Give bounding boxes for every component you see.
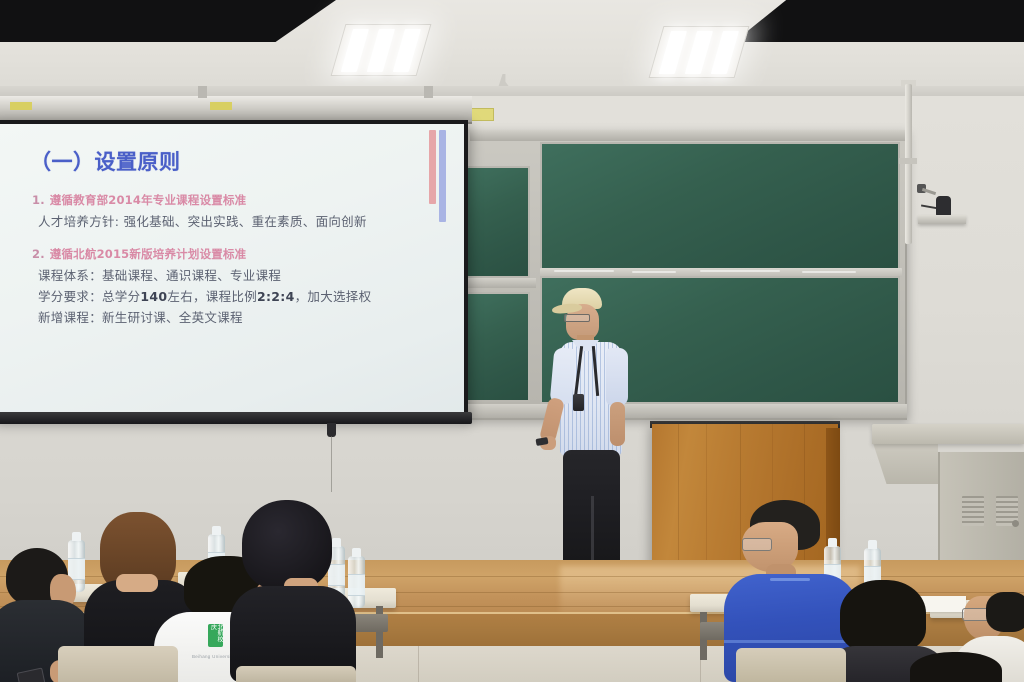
- line2-ratio: 2:2:4: [257, 289, 295, 304]
- pipe-bracket: [899, 158, 917, 164]
- screen-pull-hook[interactable]: [327, 423, 336, 437]
- attendee-hair: [840, 580, 926, 652]
- screen-label-tag: [210, 102, 232, 110]
- slide-item-2-line-3: 新增课程：新生研讨课、全英文课程: [38, 307, 438, 326]
- blackboard-panel-main-top: [540, 142, 900, 270]
- projection-screen-weight-bar: [0, 412, 472, 424]
- tshirt-logo-text: 北航 校庆: [209, 624, 222, 647]
- board-corner-tag: [470, 108, 494, 121]
- light-tube: [685, 31, 713, 74]
- slide-item-2-line-1: 课程体系：基础课程、通识课程、专业课程: [38, 265, 438, 284]
- blackboard-rail-top: [462, 130, 907, 141]
- attendee-hair: [910, 652, 1002, 682]
- presenter-forearm-right: [610, 402, 625, 446]
- cabinet-lock-icon[interactable]: [1012, 520, 1019, 527]
- screen-bracket: [424, 86, 433, 98]
- lecture-hall-photo: （一）设置原则 1.遵循教育部2014年专业课程设置标准 人才培养方针: 强化基…: [0, 0, 1024, 682]
- camera-shelf: [918, 215, 966, 224]
- slide-item-2-heading: 2.遵循北航2015新版培养计划设置标准: [32, 246, 438, 262]
- light-tube: [659, 31, 687, 74]
- slide-spacer: [24, 232, 438, 246]
- tshirt-subtext: Beihang University: [192, 654, 235, 659]
- glasses-icon: [742, 538, 772, 551]
- slide-accent-red-bar: [429, 130, 436, 204]
- attendee-neck: [116, 574, 158, 592]
- slide-title: （一）设置原则: [30, 146, 438, 176]
- attendee-black-curly-woman: [236, 500, 356, 682]
- line2-mid: 左右，课程比例: [167, 289, 257, 304]
- chair-back: [58, 646, 178, 682]
- screen-cord: [331, 436, 332, 492]
- screen-bracket: [198, 86, 207, 98]
- slide-item-2-line-2: 学分要求：总学分140左右，课程比例2:2:4，加大选择权: [38, 286, 438, 305]
- line2-pre: 学分要求：总学分: [38, 289, 140, 304]
- blackboard-panel-left-top: [466, 166, 530, 278]
- ceiling-light-fixture-left: [331, 24, 432, 76]
- projection-screen[interactable]: （一）设置原则 1.遵循教育部2014年专业课程设置标准 人才培养方针: 强化基…: [0, 120, 468, 420]
- slide-item-2-number: 2.: [32, 247, 45, 261]
- projection-screen-surface: （一）设置原则 1.遵循教育部2014年专业课程设置标准 人才培养方针: 强化基…: [0, 124, 464, 416]
- polo-collar: [770, 578, 810, 581]
- camera-icon: [936, 196, 951, 216]
- presenter-sleeve-right: [606, 348, 628, 406]
- blackboard-panel-left-bottom: [466, 292, 530, 402]
- slide-item-1-heading: 1.遵循教育部2014年专业课程设置标准: [32, 192, 438, 208]
- slide-item-1-line-1: 人才培养方针: 强化基础、突出实践、重在素质、面向创新: [38, 211, 438, 230]
- blackboard-rail-left-middle: [462, 278, 536, 288]
- glasses-icon: [564, 314, 590, 322]
- line2-post: ，加大选择权: [295, 289, 372, 304]
- screen-label-tag: [10, 102, 32, 110]
- chair-back: [736, 648, 846, 682]
- presentation-slide: （一）设置原则 1.遵循教育部2014年专业课程设置标准 人才培养方针: 强化基…: [0, 124, 464, 416]
- slide-item-1-heading-text: 遵循教育部2014年专业课程设置标准: [50, 193, 247, 207]
- slide-item-2-heading-text: 遵循北航2015新版培养计划设置标准: [50, 247, 247, 261]
- light-tube: [710, 31, 738, 74]
- id-badge: [573, 394, 584, 411]
- slide-item-1-number: 1.: [32, 193, 45, 207]
- light-tube: [367, 29, 395, 72]
- light-tube: [392, 29, 420, 72]
- attendee-hair: [242, 500, 332, 590]
- cabinet-vent: [962, 496, 984, 526]
- presenter: [540, 288, 650, 600]
- wall-conduit-pipe: [905, 84, 912, 244]
- light-tube: [341, 29, 369, 72]
- slide-accent-blue-bar: [439, 130, 446, 222]
- chair-back: [236, 666, 356, 682]
- tshirt-logo: 北航 校庆: [208, 624, 223, 647]
- cabinet-top-surface: [872, 424, 1024, 444]
- line2-credits: 140: [140, 289, 167, 304]
- presenter-leg-seam: [591, 496, 594, 570]
- attendee-partial-bottom-right: [910, 652, 1006, 682]
- attendee-hair: [986, 592, 1024, 632]
- blackboard-rail-bottom: [462, 404, 907, 418]
- ceiling-light-fixture-right: [649, 26, 750, 78]
